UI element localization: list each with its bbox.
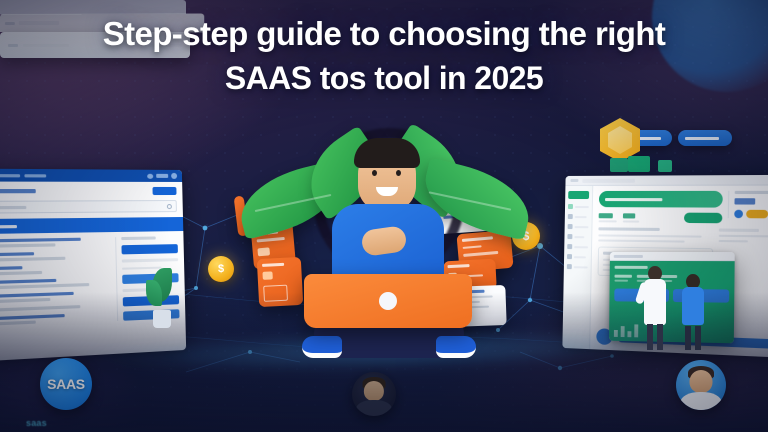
panel-icon — [734, 210, 743, 218]
row-title — [0, 266, 23, 270]
saas-badge-label: SAAS — [47, 376, 85, 392]
title-line-1: Step-step guide to choosing the right — [0, 12, 768, 56]
left-dashboard-topbar — [0, 169, 182, 182]
green-chip — [658, 160, 672, 172]
list-item[interactable] — [0, 277, 112, 290]
section-title — [0, 224, 17, 228]
left-dashboard-toolbar — [0, 182, 183, 214]
sidebar-icon — [568, 204, 573, 209]
bell-icon[interactable] — [147, 173, 153, 178]
sidebar-icon — [567, 234, 572, 239]
hero-banner: Step-step guide to choosing the right SA… — [0, 0, 768, 432]
url-field[interactable] — [582, 178, 635, 182]
panel-text — [122, 258, 178, 262]
laptop-logo-icon — [379, 292, 397, 310]
hero-laptop — [304, 274, 472, 328]
sidebar-item[interactable] — [568, 224, 589, 229]
cta-button[interactable] — [684, 213, 723, 224]
panel-title — [614, 254, 643, 257]
hero-illustration — [296, 124, 480, 374]
title-line-2: SAAS tos tool in 2025 — [0, 56, 768, 100]
row-subtitle — [0, 271, 42, 275]
banner-label — [605, 198, 662, 201]
green-chip — [610, 158, 628, 172]
sidebar-item[interactable] — [567, 244, 588, 249]
stat-card — [623, 213, 640, 222]
row-title — [0, 279, 57, 284]
sidebar-icon — [567, 264, 572, 269]
saas-badge[interactable]: SAAS — [40, 358, 92, 410]
list-item[interactable] — [0, 251, 111, 262]
user-menu[interactable] — [156, 174, 168, 178]
page-title — [0, 189, 36, 193]
right-panel-summary — [728, 191, 768, 219]
coin-stack-icon — [746, 210, 768, 219]
nav-item[interactable] — [24, 174, 46, 177]
sidebar-logo — [568, 191, 589, 199]
nav-item[interactable] — [0, 174, 20, 177]
avatar-body — [681, 392, 722, 410]
hero-eye-right — [396, 170, 401, 176]
panel-title — [121, 236, 155, 240]
panel-button[interactable] — [121, 244, 177, 254]
avatar[interactable] — [171, 173, 177, 179]
search-placeholder — [0, 205, 26, 208]
list-item[interactable] — [0, 237, 111, 248]
sidebar-icon — [568, 224, 573, 229]
coin-badge-icon: $ — [208, 256, 234, 282]
hero-hair — [354, 138, 420, 168]
avatar-face — [364, 381, 384, 401]
row-title — [0, 252, 35, 256]
coin-glyph: $ — [218, 263, 224, 275]
right-dashboard-browser-bar — [565, 175, 768, 186]
row-subtitle — [0, 257, 65, 261]
sidebar-item[interactable] — [567, 234, 588, 239]
search-input[interactable] — [0, 200, 177, 214]
potted-plant-decoration — [146, 268, 176, 328]
sidebar-icon — [568, 214, 573, 219]
row-title — [0, 238, 81, 243]
pill-label — [685, 137, 719, 140]
banner-title: Step-step guide to choosing the right SA… — [0, 12, 768, 100]
sidebar-item[interactable] — [568, 214, 589, 219]
hero-eye-left — [372, 170, 377, 176]
primary-action-button[interactable] — [152, 187, 176, 195]
sidebar-item[interactable] — [567, 264, 588, 269]
promo-banner — [599, 191, 723, 208]
sidebar-icon — [567, 244, 572, 249]
pill-button-secondary[interactable] — [678, 130, 732, 146]
figure-staff-illustration — [680, 274, 706, 350]
hero-shoe-right — [436, 336, 476, 358]
row-subtitle — [0, 283, 89, 289]
sidebar-item[interactable] — [567, 254, 588, 259]
sidebar-item[interactable] — [568, 204, 589, 209]
bottom-left-caption: saas — [26, 418, 47, 428]
avatar-body — [356, 400, 392, 416]
search-icon — [167, 204, 172, 209]
green-chip — [628, 156, 650, 172]
sidebar-icon — [567, 254, 572, 259]
stat-card — [599, 213, 617, 222]
list-item[interactable] — [0, 264, 112, 276]
figure-doctor-illustration — [642, 266, 668, 350]
back-icon[interactable] — [570, 179, 578, 182]
avatar-center[interactable] — [352, 372, 396, 416]
avatar-right[interactable] — [676, 360, 726, 410]
row-subtitle — [0, 243, 56, 247]
hero-shoe-left — [302, 336, 342, 358]
avatar-face — [690, 370, 713, 393]
